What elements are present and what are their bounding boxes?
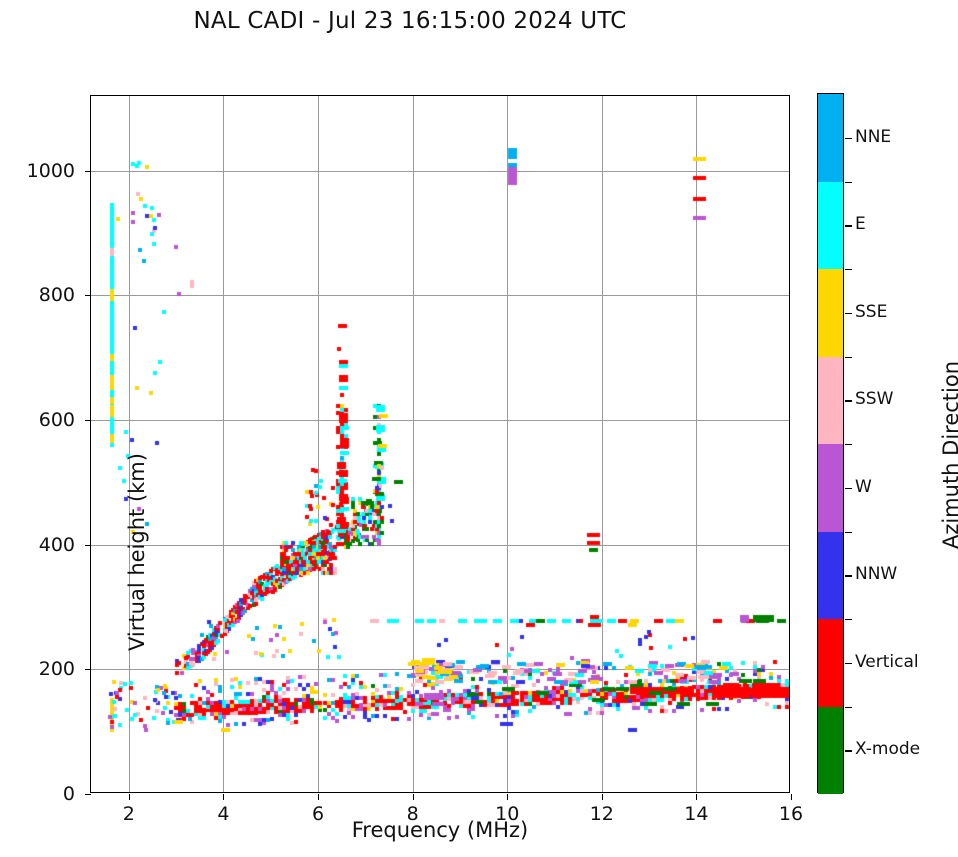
y-tick bbox=[85, 171, 91, 172]
colorbar-segment-ssw bbox=[818, 357, 843, 445]
colorbar-segment-nne bbox=[818, 94, 843, 182]
colorbar-boundary-tick bbox=[845, 357, 852, 358]
colorbar-tick bbox=[845, 138, 852, 139]
y-tick bbox=[85, 669, 91, 670]
colorbar-label-sse: SSE bbox=[855, 302, 887, 322]
colorbar-segment-nnw bbox=[818, 532, 843, 620]
y-tick bbox=[85, 794, 91, 795]
colorbar-label-nne: NNE bbox=[855, 127, 891, 147]
colorbar-tick bbox=[845, 313, 852, 314]
colorbar-boundary-tick bbox=[845, 269, 852, 270]
y-tick-label: 600 bbox=[39, 409, 75, 431]
colorbar-tick bbox=[845, 750, 852, 751]
x-axis-title: Frequency (MHz) bbox=[90, 818, 790, 842]
x-tick bbox=[602, 794, 603, 800]
plot-area: 24681012141602004006008001000 Virtual he… bbox=[90, 95, 790, 793]
colorbar-segment-e bbox=[818, 182, 843, 270]
colorbar-tick bbox=[845, 225, 852, 226]
colorbar-label-vertical: Vertical bbox=[855, 652, 919, 672]
y-tick bbox=[85, 545, 91, 546]
y-tick-label: 0 bbox=[63, 783, 75, 805]
colorbar-label-x-mode: X-mode bbox=[855, 739, 920, 759]
y-tick bbox=[85, 295, 91, 296]
colorbar-label-nnw: NNW bbox=[855, 564, 897, 584]
y-tick-label: 200 bbox=[39, 658, 75, 680]
colorbar-tick bbox=[845, 575, 852, 576]
colorbar-segment-sse bbox=[818, 269, 843, 357]
colorbar-segment-x-mode bbox=[818, 707, 843, 795]
y-tick-label: 400 bbox=[39, 534, 75, 556]
y-tick bbox=[85, 420, 91, 421]
colorbar-tick bbox=[845, 488, 852, 489]
x-tick bbox=[318, 794, 319, 800]
x-tick bbox=[223, 794, 224, 800]
colorbar-label-ssw: SSW bbox=[855, 389, 893, 409]
ionogram-figure: NAL CADI - Jul 23 16:15:00 2024 UTC 2468… bbox=[0, 0, 958, 857]
x-tick bbox=[507, 794, 508, 800]
colorbar-boundary-tick bbox=[845, 532, 852, 533]
ionogram-scatter-canvas bbox=[91, 96, 789, 792]
colorbar-boundary-tick bbox=[845, 444, 852, 445]
colorbar-label-e: E bbox=[855, 214, 866, 234]
data-layer bbox=[91, 96, 789, 792]
x-tick bbox=[129, 794, 130, 800]
colorbar-boundary-tick bbox=[845, 619, 852, 620]
colorbar-boundary-tick bbox=[845, 182, 852, 183]
colorbar bbox=[817, 93, 844, 793]
colorbar-segment-w bbox=[818, 444, 843, 532]
figure-title: NAL CADI - Jul 23 16:15:00 2024 UTC bbox=[0, 8, 820, 34]
colorbar-tick bbox=[845, 400, 852, 401]
y-tick-label: 800 bbox=[39, 284, 75, 306]
y-axis-title: Virtual height (km) bbox=[125, 402, 149, 702]
x-tick bbox=[791, 794, 792, 800]
colorbar-title: Azimuth Direction bbox=[939, 285, 958, 625]
x-tick bbox=[413, 794, 414, 800]
colorbar-segment-vertical bbox=[818, 619, 843, 707]
colorbar-tick bbox=[845, 663, 852, 664]
colorbar-boundary-tick bbox=[845, 707, 852, 708]
x-tick bbox=[696, 794, 697, 800]
colorbar-label-w: W bbox=[855, 477, 872, 497]
y-tick-label: 1000 bbox=[27, 160, 75, 182]
